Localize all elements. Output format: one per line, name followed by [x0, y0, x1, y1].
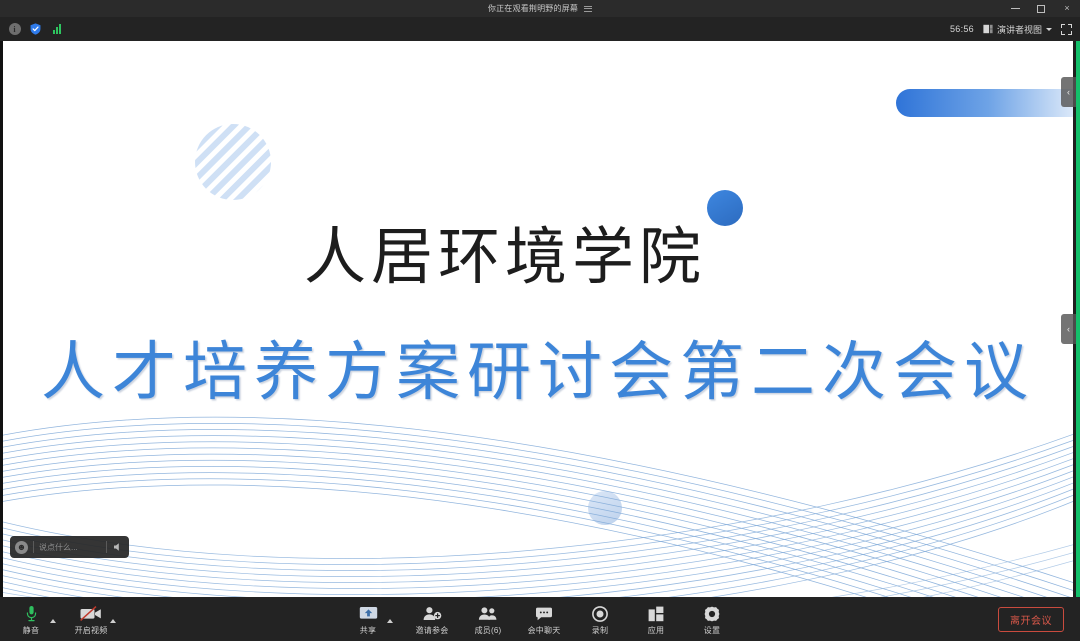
start-video-button[interactable]: 开启视频: [74, 602, 108, 636]
toolbar-right-group: 离开会议: [998, 607, 1080, 632]
slide-title: 人居环境学院: [3, 222, 1007, 291]
slide-subtitle: 人才培养方案研讨会第二次会议: [3, 338, 1073, 408]
minimize-button[interactable]: [1002, 0, 1028, 17]
settings-icon: [704, 605, 720, 622]
speaker-icon[interactable]: [112, 541, 124, 553]
chat-icon: [535, 605, 553, 622]
info-bar-left-icons: i: [0, 23, 63, 36]
meeting-timer: 56:56: [950, 24, 974, 34]
shield-icon-svg: [30, 23, 41, 35]
chat-button[interactable]: 会中聊天: [527, 602, 561, 636]
video-off-icon: [79, 605, 103, 622]
chat-input[interactable]: [39, 543, 101, 552]
meeting-info-bar: i 56:56 演讲者视图: [0, 17, 1080, 41]
info-bar-right-group: 56:56 演讲者视图: [950, 23, 1080, 36]
chat-label: 会中聊天: [528, 625, 561, 636]
share-screen-label: 共享: [360, 625, 376, 636]
mute-button[interactable]: 静音: [14, 602, 48, 636]
mute-label: 静音: [23, 625, 39, 636]
meeting-toolbar: 静音 开启视频: [0, 597, 1080, 641]
leave-meeting-button[interactable]: 离开会议: [998, 607, 1064, 632]
settings-label: 设置: [704, 625, 720, 636]
apps-label: 应用: [648, 625, 664, 636]
collapse-panel-top-button[interactable]: ‹: [1061, 77, 1076, 107]
share-screen-button[interactable]: 共享: [351, 602, 385, 636]
participants-label: 成员(6): [475, 625, 502, 636]
start-video-label: 开启视频: [75, 625, 108, 636]
restore-button[interactable]: [1028, 0, 1054, 17]
shield-icon[interactable]: [29, 23, 42, 36]
collapse-panel-mid-button[interactable]: ‹: [1061, 314, 1076, 344]
meeting-window: 你正在观看荆明野的屏幕 × i 56:56: [0, 0, 1080, 641]
view-mode-label: 演讲者视图: [997, 23, 1042, 36]
window-controls: ×: [1002, 0, 1080, 17]
hamburger-icon[interactable]: [584, 6, 592, 12]
invite-participant-button[interactable]: 邀请参会: [415, 602, 449, 636]
wave-lines-decor: [3, 417, 1073, 597]
emoji-icon[interactable]: ☻: [15, 541, 28, 554]
solid-blue-circle-decor: [707, 190, 743, 226]
striped-circle-decor: [195, 124, 271, 200]
participants-icon: [478, 605, 498, 622]
slide-decoration-svg: [3, 41, 1073, 597]
share-notice-text: 你正在观看荆明野的屏幕: [488, 3, 578, 14]
share-screen-icon: [359, 605, 378, 622]
record-button[interactable]: 录制: [583, 602, 617, 636]
apps-icon: [648, 605, 664, 622]
info-icon[interactable]: i: [8, 23, 21, 36]
record-label: 录制: [592, 625, 608, 636]
gradient-bar-decor: [896, 89, 1073, 117]
chevron-down-icon[interactable]: [1046, 28, 1052, 31]
toolbar-left-group: 静音 开启视频: [0, 602, 116, 636]
apps-button[interactable]: 应用: [639, 602, 673, 636]
shared-screen-stage: 人居环境学院 人才培养方案研讨会第二次会议 ‹ ‹ ☻: [0, 41, 1080, 597]
presentation-slide: 人居环境学院 人才培养方案研讨会第二次会议: [3, 41, 1073, 597]
floating-chat-bar[interactable]: ☻: [10, 536, 129, 558]
share-options-chevron-icon[interactable]: [387, 619, 393, 623]
mute-options-chevron-icon[interactable]: [50, 619, 56, 623]
pill-divider-2: [106, 541, 107, 553]
close-button[interactable]: ×: [1054, 0, 1080, 17]
toolbar-center-group: 共享 邀请参会: [351, 602, 729, 636]
invite-participant-label: 邀请参会: [416, 625, 449, 636]
settings-button[interactable]: 设置: [695, 602, 729, 636]
participants-button[interactable]: 成员(6): [471, 602, 505, 636]
microphone-icon: [25, 605, 38, 622]
share-border-right: [1076, 41, 1080, 597]
video-options-chevron-icon[interactable]: [110, 619, 116, 623]
view-mode-selector[interactable]: 演讲者视图: [983, 23, 1052, 36]
record-icon: [592, 605, 608, 622]
window-titlebar: 你正在观看荆明野的屏幕 ×: [0, 0, 1080, 17]
pill-divider-1: [33, 541, 34, 553]
presenter-view-icon: [983, 24, 993, 34]
fullscreen-icon[interactable]: [1061, 24, 1072, 35]
signal-strength-icon[interactable]: [50, 23, 63, 36]
invite-participant-icon: [422, 605, 442, 622]
